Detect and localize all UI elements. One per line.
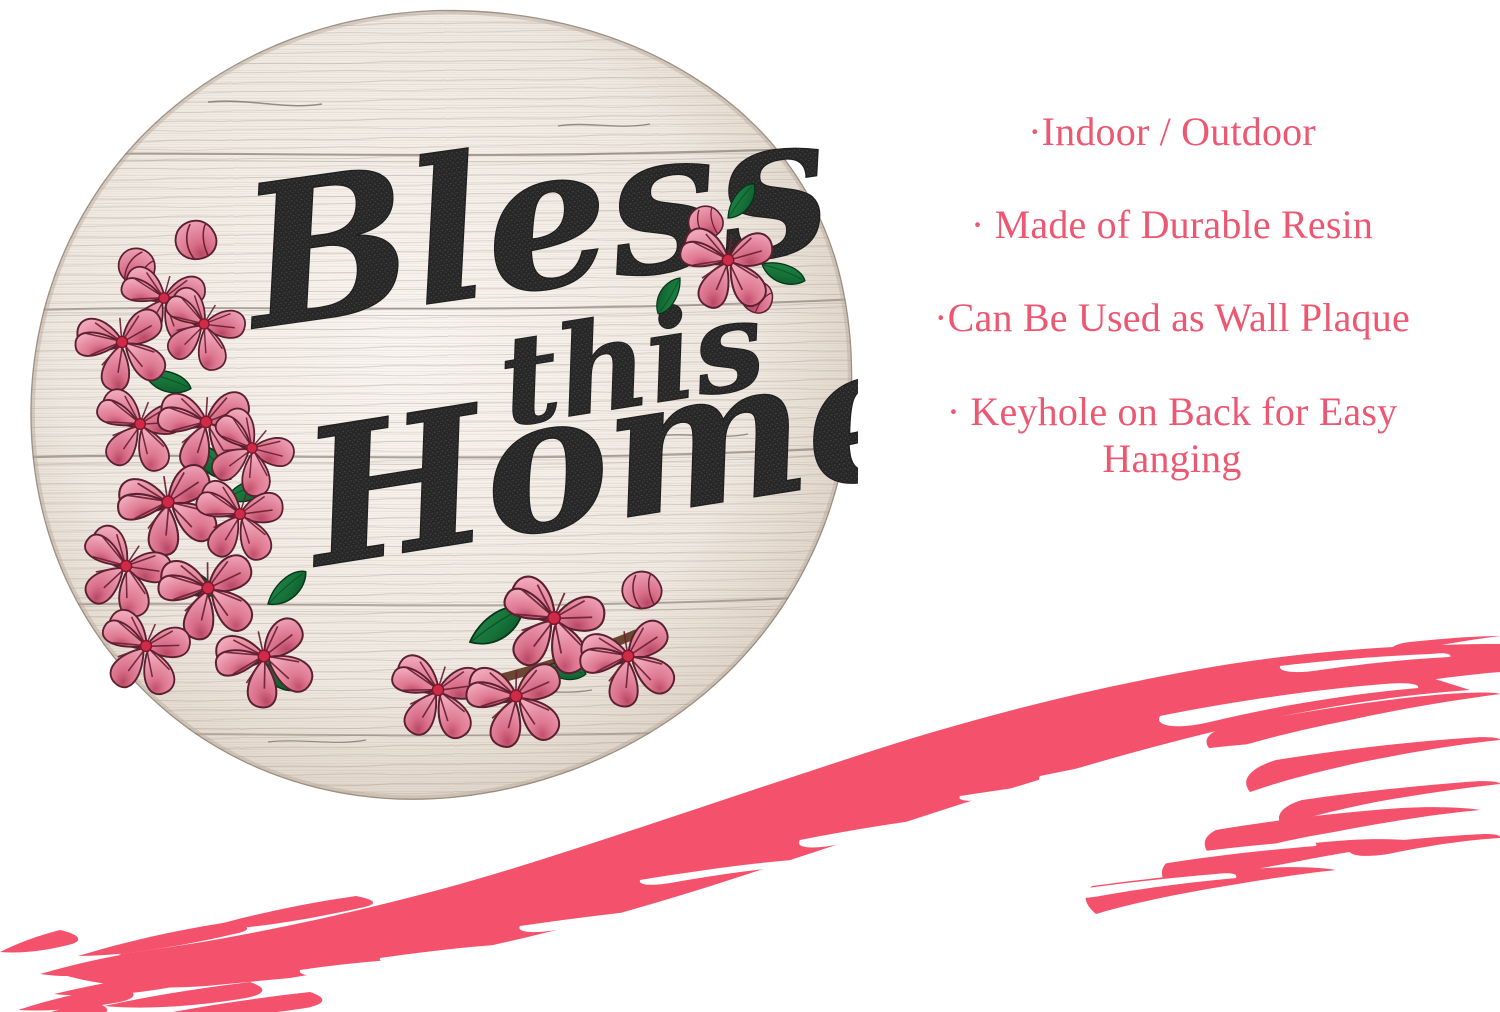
feature-item-3-label: Can Be Used as Wall Plaque	[948, 295, 1410, 340]
feature-item-1: ·Indoor / Outdoor	[858, 108, 1486, 155]
feature-item-4-label: Keyhole on Back for Easy Hanging	[970, 389, 1397, 481]
brush-stroke-illustration	[0, 630, 1500, 1012]
brush-stroke-decoration	[0, 630, 1500, 1012]
feature-item-1-label: Indoor / Outdoor	[1042, 109, 1316, 154]
feature-bullet-list: ·Indoor / Outdoor · Made of Durable Resi…	[858, 108, 1486, 482]
feature-item-2: · Made of Durable Resin	[858, 201, 1486, 248]
bullet-dot-icon: ·	[1028, 109, 1042, 154]
plaque-script-text: Bless this Home	[226, 65, 858, 611]
feature-item-3: ·Can Be Used as Wall Plaque	[858, 294, 1486, 341]
bullet-dot-icon: ·	[947, 389, 961, 434]
bullet-dot-icon: ·	[971, 202, 985, 247]
feature-item-4: · Keyhole on Back for Easy Hanging	[858, 388, 1486, 482]
product-feature-image: Bless this Home	[0, 0, 1500, 1012]
bullet-dot-icon: ·	[934, 295, 948, 340]
feature-item-2-label: Made of Durable Resin	[995, 202, 1374, 247]
